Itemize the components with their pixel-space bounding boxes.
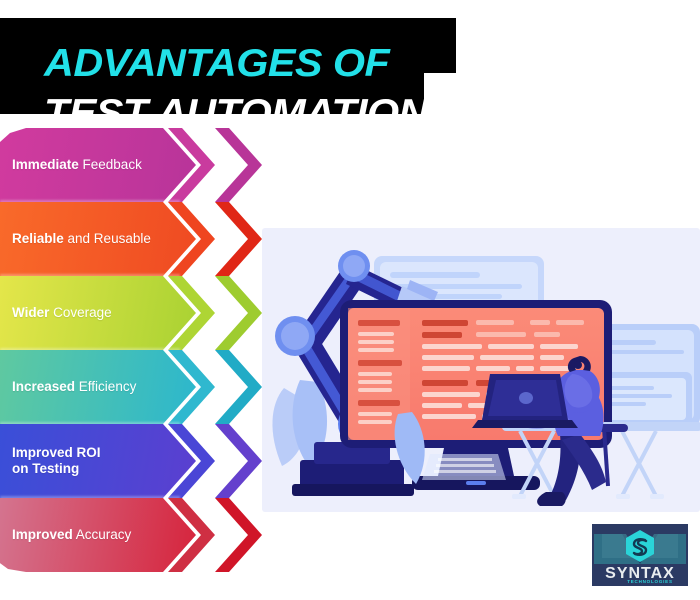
test-automation-illustration (262, 228, 700, 512)
advantage-label-5-line2: on Testing (12, 461, 79, 476)
chevron-2-of-item-4 (215, 350, 262, 424)
keyboard (422, 454, 506, 480)
advantage-label-4: Increased Efficiency (12, 379, 162, 395)
page-title-line-2: TEST AUTOMATION (44, 94, 428, 133)
syntax-technologies-logo[interactable]: SYNTAX TECHNOLOGIES (592, 524, 688, 586)
page-title-block: ADVANTAGES OF TEST AUTOMATION (0, 18, 460, 114)
advantage-label-2-regular: and Reusable (64, 231, 151, 246)
advantages-arrow-list: Immediate Feedback Reliable and Reusable… (0, 128, 262, 580)
advantage-label-6-bold: Improved (12, 527, 73, 542)
page-title-line-1: ADVANTAGES OF (44, 44, 389, 83)
advantage-item-4[interactable]: Increased Efficiency (0, 350, 262, 424)
advantage-item-3[interactable]: Wider Coverage (0, 276, 262, 350)
advantage-label-3-regular: Coverage (49, 305, 111, 320)
advantage-item-2[interactable]: Reliable and Reusable (0, 202, 262, 276)
advantage-label-3-bold: Wider (12, 305, 49, 320)
advantage-item-5[interactable]: Improved ROI on Testing (0, 424, 262, 498)
advantage-label-1-bold: Immediate (12, 157, 79, 172)
advantage-label-5-bold: Improved ROI (12, 445, 101, 460)
advantage-label-3: Wider Coverage (12, 305, 162, 321)
chevron-2-of-item-5 (215, 424, 262, 498)
advantage-label-4-bold: Increased (12, 379, 75, 394)
advantage-item-1[interactable]: Immediate Feedback (0, 128, 262, 202)
advantage-label-1: Immediate Feedback (12, 157, 162, 173)
logo-tagline-text: TECHNOLOGIES (627, 579, 673, 584)
advantage-label-1-regular: Feedback (79, 157, 142, 172)
advantage-label-6: Improved Accuracy (12, 527, 162, 543)
advantage-label-2: Reliable and Reusable (12, 231, 162, 247)
chevron-2-of-item-1 (215, 128, 262, 202)
chevron-2-of-item-3 (215, 276, 262, 350)
advantage-label-2-bold: Reliable (12, 231, 64, 246)
advantage-label-6-regular: Accuracy (73, 527, 132, 542)
advantage-label-4-regular: Efficiency (75, 379, 136, 394)
chevron-2-of-item-6 (215, 498, 262, 572)
chevron-2-of-item-2 (215, 202, 262, 276)
advantage-item-6[interactable]: Improved Accuracy (0, 498, 262, 572)
advantage-label-5: Improved ROI on Testing (12, 445, 162, 477)
